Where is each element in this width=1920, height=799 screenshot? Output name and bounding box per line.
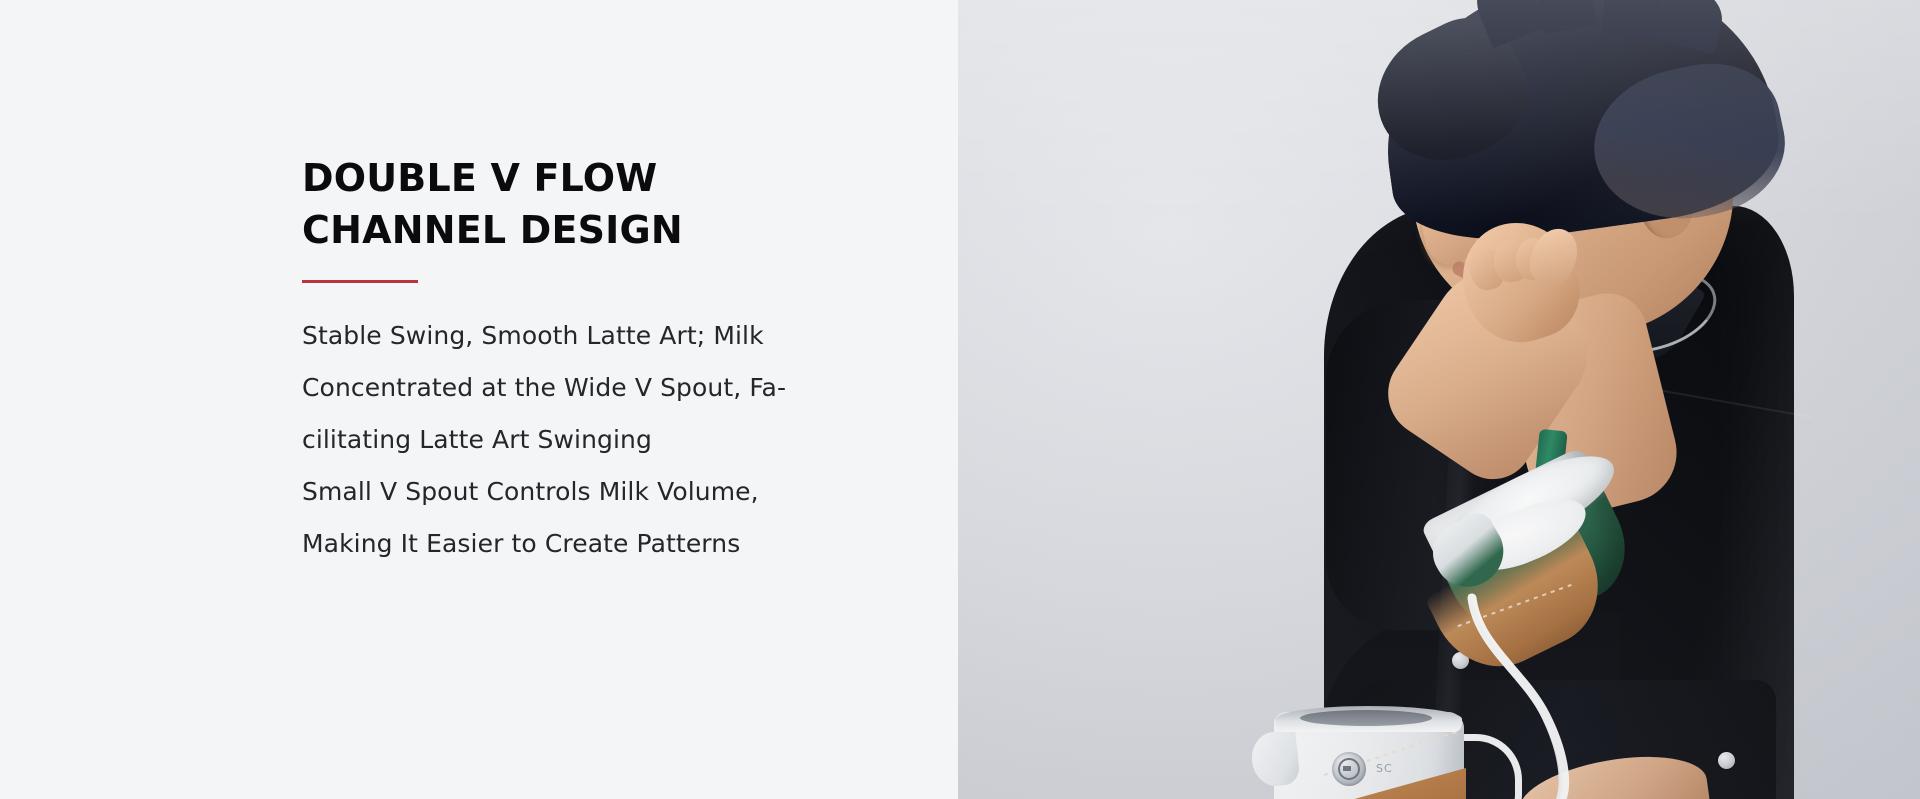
person-figure: [958, 0, 1920, 799]
shirt-button: [1718, 752, 1735, 769]
brand-badge-icon: [1332, 752, 1366, 786]
text-panel: DOUBLE V FLOW CHANNEL DESIGN Stable Swin…: [0, 0, 958, 799]
accent-divider: [302, 280, 418, 283]
lower-pitcher-rim-inner: [1300, 710, 1432, 726]
body-description: Stable Swing, Smooth Latte Art; Milk Con…: [302, 310, 902, 570]
product-photo: SC: [958, 0, 1920, 799]
lower-pitcher-spout: [1249, 730, 1300, 789]
lower-milk-pitcher: SC: [1254, 712, 1494, 799]
photo-stage: SC: [958, 0, 1920, 799]
brand-mark-glyph: [1338, 758, 1360, 780]
product-feature-banner: DOUBLE V FLOW CHANNEL DESIGN Stable Swin…: [0, 0, 1920, 799]
copy-block: DOUBLE V FLOW CHANNEL DESIGN Stable Swin…: [302, 152, 902, 570]
hair-spike: [1602, 0, 1662, 38]
page-title: DOUBLE V FLOW CHANNEL DESIGN: [302, 152, 902, 256]
brand-wordmark: SC: [1376, 762, 1393, 775]
